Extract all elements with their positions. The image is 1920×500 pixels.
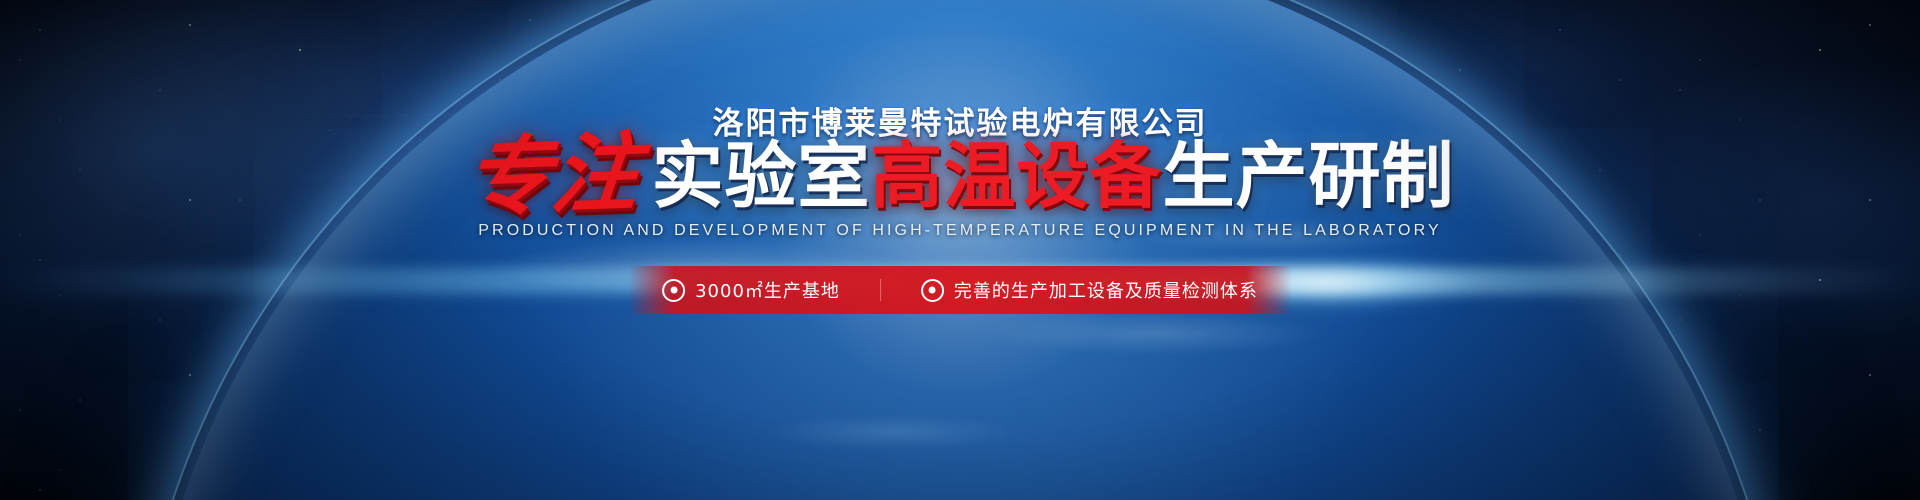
feature-item-quality: 完善的生产加工设备及质量检测体系 [921, 277, 1258, 303]
feature-label-quality: 完善的生产加工设备及质量检测体系 [954, 277, 1258, 303]
english-subtitle: PRODUCTION AND DEVELOPMENT OF HIGH-TEMPE… [0, 222, 1920, 240]
feature-divider [880, 279, 881, 301]
headline-part-high-temp-equipment: 高温设备 [870, 140, 1162, 212]
feature-item-area: 3000㎡生产基地 [662, 277, 840, 303]
hero-banner: BLMT 洛阳市博莱曼特试验电炉有限公司 专注实验室高温设备生产研制 PRODU… [0, 0, 1920, 500]
target-ring-icon [662, 279, 685, 302]
headline-part-production-rnd: 生产研制 [1163, 140, 1455, 212]
banner-content: 洛阳市博莱曼特试验电炉有限公司 专注实验室高温设备生产研制 PRODUCTION… [0, 0, 1920, 500]
headline: 专注实验室高温设备生产研制 [0, 133, 1920, 219]
headline-part-laboratory: 实验室 [651, 140, 870, 212]
target-ring-icon [921, 279, 944, 302]
feature-badge-bar: 3000㎡生产基地 完善的生产加工设备及质量检测体系 [628, 266, 1292, 314]
feature-label-area: 3000㎡生产基地 [695, 277, 840, 303]
headline-part-focus: 专注 [461, 130, 645, 222]
